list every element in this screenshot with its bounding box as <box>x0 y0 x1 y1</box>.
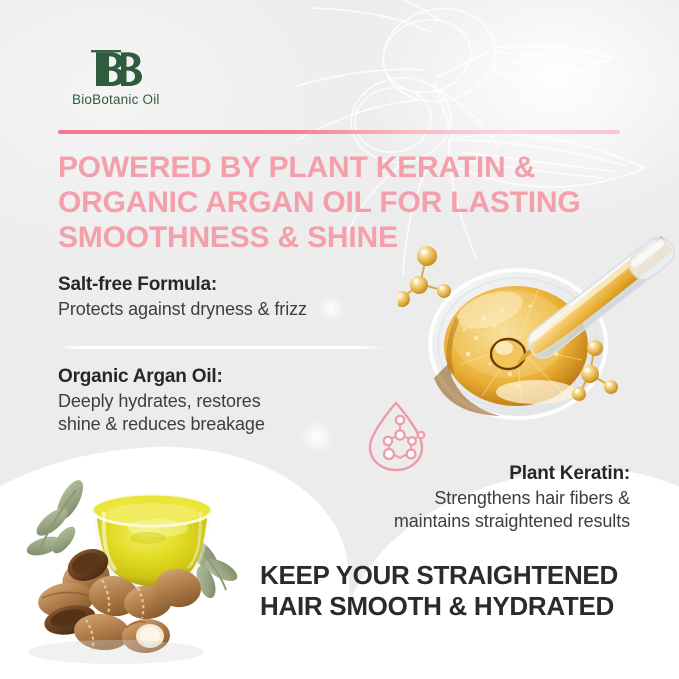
headline-line-1: POWERED BY PLANT KERATIN & <box>58 150 638 185</box>
product-photo-dropper-oil <box>398 214 679 446</box>
gold-molecule-icon <box>398 246 451 307</box>
feature-organic-argan-oil: Organic Argan Oil: Deeply hydrates, rest… <box>58 366 388 436</box>
feature-divider <box>58 346 385 349</box>
feature-body-line-1: Deeply hydrates, restores <box>58 390 388 413</box>
infographic-canvas: BioBotanic Oil POWERED BY PLANT KERATIN … <box>0 0 679 679</box>
brand-name: BioBotanic Oil <box>72 92 160 107</box>
feature-title: Salt-free Formula: <box>58 274 388 296</box>
feature-body-line-2: shine & reduces breakage <box>58 413 388 436</box>
feature-title: Organic Argan Oil: <box>58 366 388 388</box>
feature-body-line-2: maintains straightened results <box>300 510 630 533</box>
feature-salt-free-formula: Salt-free Formula: Protects against dryn… <box>58 274 388 321</box>
feature-plant-keratin: Plant Keratin: Strengthens hair fibers &… <box>300 463 630 533</box>
bb-monogram-icon <box>83 46 149 90</box>
argan-nuts-photo <box>6 460 256 665</box>
tagline-line-2: HAIR SMOOTH & HYDRATED <box>260 591 660 622</box>
feature-body-line-1: Strengthens hair fibers & <box>300 487 630 510</box>
brand-logo[interactable]: BioBotanic Oil <box>72 46 160 107</box>
feature-title: Plant Keratin: <box>300 463 630 485</box>
accent-divider-rule <box>58 130 620 134</box>
bottom-tagline: KEEP YOUR STRAIGHTENED HAIR SMOOTH & HYD… <box>260 560 660 622</box>
feature-body-line-1: Protects against dryness & frizz <box>58 298 388 321</box>
tagline-line-1: KEEP YOUR STRAIGHTENED <box>260 560 660 591</box>
